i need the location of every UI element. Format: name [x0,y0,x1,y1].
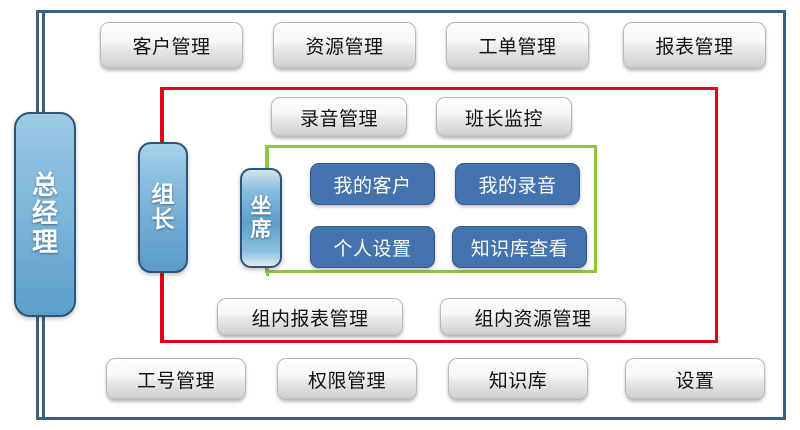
button-supervisor-monitoring[interactable]: 班长监控 [436,97,572,137]
button-agent-id-management[interactable]: 工号管理 [106,358,246,400]
button-my-recordings[interactable]: 我的录音 [455,163,580,205]
role-box-general-manager[interactable]: 总经理 [14,112,76,317]
connector-leader-down [161,271,164,343]
button-group-report-management[interactable]: 组内报表管理 [217,298,403,336]
button-permission-management[interactable]: 权限管理 [277,358,417,400]
button-knowledge-base[interactable]: 知识库 [448,358,588,400]
button-report-management[interactable]: 报表管理 [623,22,766,69]
button-personal-settings[interactable]: 个人设置 [310,226,435,268]
role-label-team-leader: 组长 [152,183,175,233]
connector-gm-down [42,315,45,420]
button-group-resource-management[interactable]: 组内资源管理 [440,298,626,336]
connector-gm-up [42,10,45,114]
button-knowledge-base-view[interactable]: 知识库查看 [452,226,587,268]
diagram-canvas: 总经理 组长 坐席 客户管理 资源管理 工单管理 报表管理 录音管理 班长监控 … [0,0,800,430]
connector-leader-up [161,87,164,144]
button-my-customers[interactable]: 我的客户 [310,163,435,205]
button-settings[interactable]: 设置 [625,358,765,400]
button-recording-management[interactable]: 录音管理 [271,97,407,137]
role-label-agent: 坐席 [251,195,272,240]
button-ticket-management[interactable]: 工单管理 [446,22,589,69]
connector-agent-up [266,145,269,170]
role-box-agent[interactable]: 坐席 [240,168,282,268]
button-resource-management[interactable]: 资源管理 [273,22,416,69]
role-box-team-leader[interactable]: 组长 [138,142,188,273]
role-label-general-manager: 总经理 [32,172,58,256]
button-customer-management[interactable]: 客户管理 [100,22,243,69]
